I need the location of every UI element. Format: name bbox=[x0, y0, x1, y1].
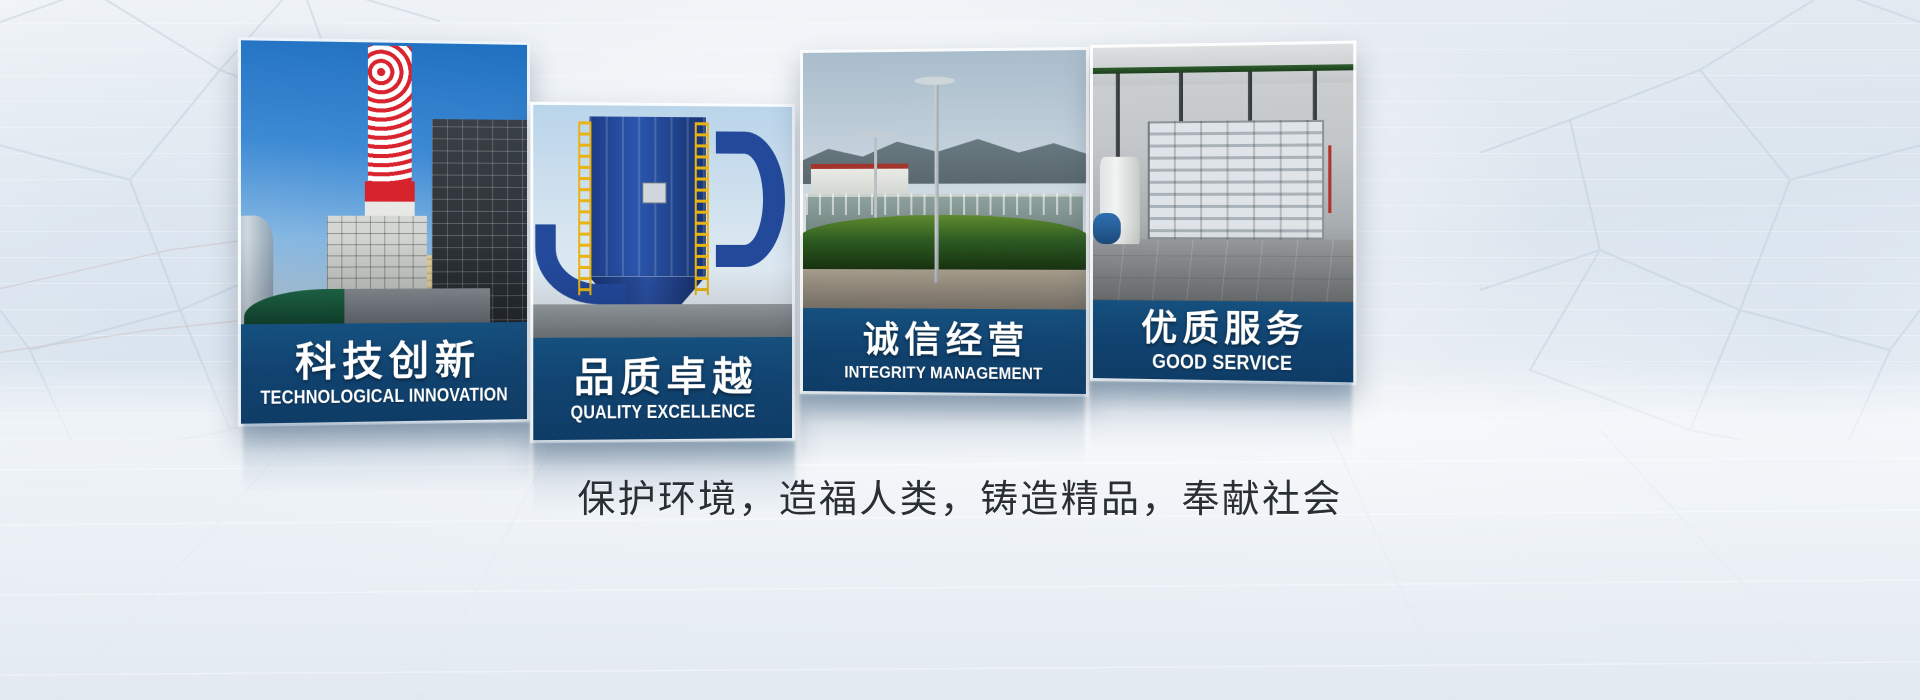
panel-photo-quality-excellence bbox=[530, 102, 795, 338]
panel-caption-good-service: 优质服务 GOOD SERVICE bbox=[1090, 300, 1356, 385]
panel-integrity-management[interactable]: 诚信经营 INTEGRITY MANAGEMENT bbox=[800, 50, 1085, 394]
banner-tagline: 保护环境，造福人类，铸造精品，奉献社会 bbox=[0, 468, 1920, 523]
panel-title-en: QUALITY EXCELLENCE bbox=[571, 402, 756, 423]
panel-caption-quality-excellence: 品质卓越 QUALITY EXCELLENCE bbox=[530, 337, 795, 443]
panel-photo-technological-innovation bbox=[238, 37, 530, 324]
panel-title-en: GOOD SERVICE bbox=[1152, 351, 1292, 375]
panel-photo-integrity-management bbox=[800, 47, 1089, 310]
panel-title-cn: 优质服务 bbox=[1136, 309, 1308, 349]
panel-photo-good-service bbox=[1090, 41, 1356, 303]
panel-title-cn: 科技创新 bbox=[289, 340, 480, 385]
panel-quality-excellence[interactable]: 品质卓越 QUALITY EXCELLENCE bbox=[533, 104, 795, 441]
panel-title-cn: 诚信经营 bbox=[858, 321, 1030, 360]
panel-title-en: TECHNOLOGICAL INNOVATION bbox=[261, 385, 509, 409]
panel-title-cn: 品质卓越 bbox=[568, 356, 758, 399]
panel-caption-integrity-management: 诚信经营 INTEGRITY MANAGEMENT bbox=[800, 308, 1089, 397]
panel-good-service[interactable]: 优质服务 GOOD SERVICE bbox=[1090, 45, 1352, 381]
panel-reflection bbox=[1090, 381, 1352, 451]
panel-technological-innovation[interactable]: 科技创新 TECHNOLOGICAL INNOVATION bbox=[243, 42, 530, 422]
hero-banner: 科技创新 TECHNOLOGICAL INNOVATION bbox=[0, 0, 1920, 700]
panel-caption-technological-innovation: 科技创新 TECHNOLOGICAL INNOVATION bbox=[238, 322, 530, 427]
panel-title-en: INTEGRITY MANAGEMENT bbox=[845, 363, 1043, 384]
panel-reflection bbox=[800, 394, 1085, 464]
